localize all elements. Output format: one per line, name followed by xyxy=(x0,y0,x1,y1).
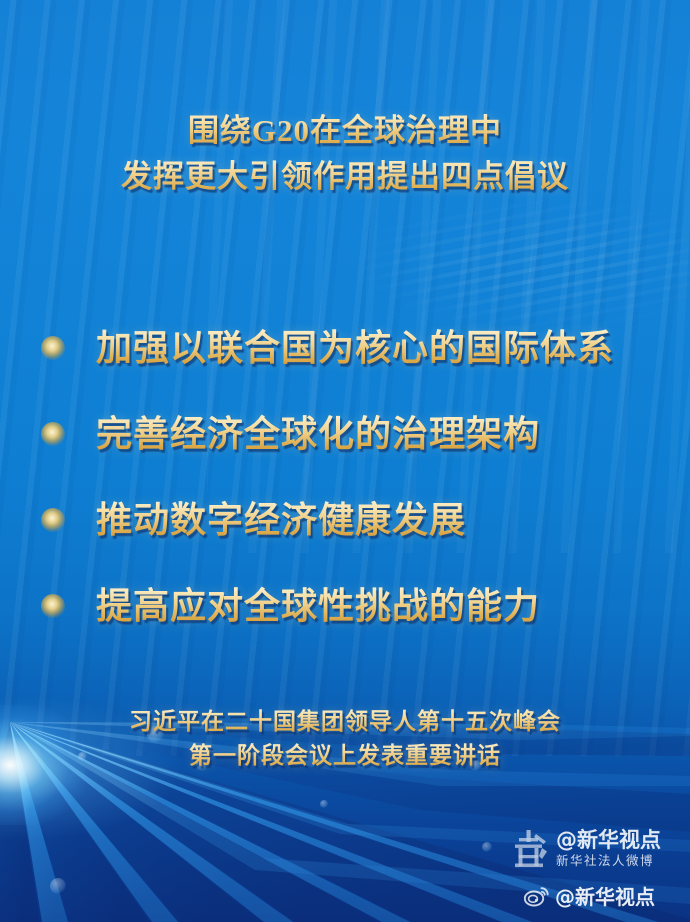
watermark: @新华视点 新华社法人微博 @新华视点 xyxy=(506,826,688,910)
bokeh-dot xyxy=(50,878,66,894)
list-item-label: 提高应对全球性挑战的能力 xyxy=(96,584,540,628)
weibo-icon xyxy=(524,885,549,907)
list-item-label: 完善经济全球化的治理架构 xyxy=(96,412,540,456)
bullet-dot-icon xyxy=(41,508,65,532)
watermark-secondary: @新华视点 xyxy=(506,881,688,910)
watermark-text-group: @新华视点 新华社法人微博 xyxy=(556,830,661,868)
poster-root: 围绕G20在全球治理中 发挥更大引领作用提出四点倡议 加强以联合国为核心的国际体… xyxy=(0,0,690,922)
bokeh-dot xyxy=(320,800,328,808)
poster-caption: 习近平在二十国集团领导人第十五次峰会 第一阶段会议上发表重要讲话 xyxy=(0,705,690,773)
proposal-list: 加强以联合国为核心的国际体系 完善经济全球化的治理架构 推动数字经济健康发展 提… xyxy=(0,305,690,649)
list-item-label: 推动数字经济健康发展 xyxy=(96,498,466,542)
watermark-primary: @新华视点 新华社法人微博 xyxy=(506,826,688,872)
bullet-dot-icon xyxy=(41,336,65,360)
xinhua-logo-icon xyxy=(506,826,552,872)
watermark-subtitle: 新华社法人微博 xyxy=(556,855,661,868)
bokeh-dot xyxy=(482,842,492,852)
list-item: 加强以联合国为核心的国际体系 xyxy=(0,305,690,391)
poster-title: 围绕G20在全球治理中 发挥更大引领作用提出四点倡议 xyxy=(0,108,690,200)
watermark-weibo-handle: @新华视点 xyxy=(555,881,655,910)
list-item: 完善经济全球化的治理架构 xyxy=(0,391,690,477)
caption-line-1: 习近平在二十国集团领导人第十五次峰会 xyxy=(0,705,690,739)
title-line-2: 发挥更大引领作用提出四点倡议 xyxy=(0,154,690,200)
bullet-dot-icon xyxy=(41,594,65,618)
list-item-label: 加强以联合国为核心的国际体系 xyxy=(96,326,614,370)
list-item: 推动数字经济健康发展 xyxy=(0,477,690,563)
title-line-1: 围绕G20在全球治理中 xyxy=(0,108,690,154)
caption-line-2: 第一阶段会议上发表重要讲话 xyxy=(0,739,690,773)
list-item: 提高应对全球性挑战的能力 xyxy=(0,563,690,649)
watermark-handle: @新华视点 xyxy=(556,830,661,851)
bullet-dot-icon xyxy=(41,422,65,446)
